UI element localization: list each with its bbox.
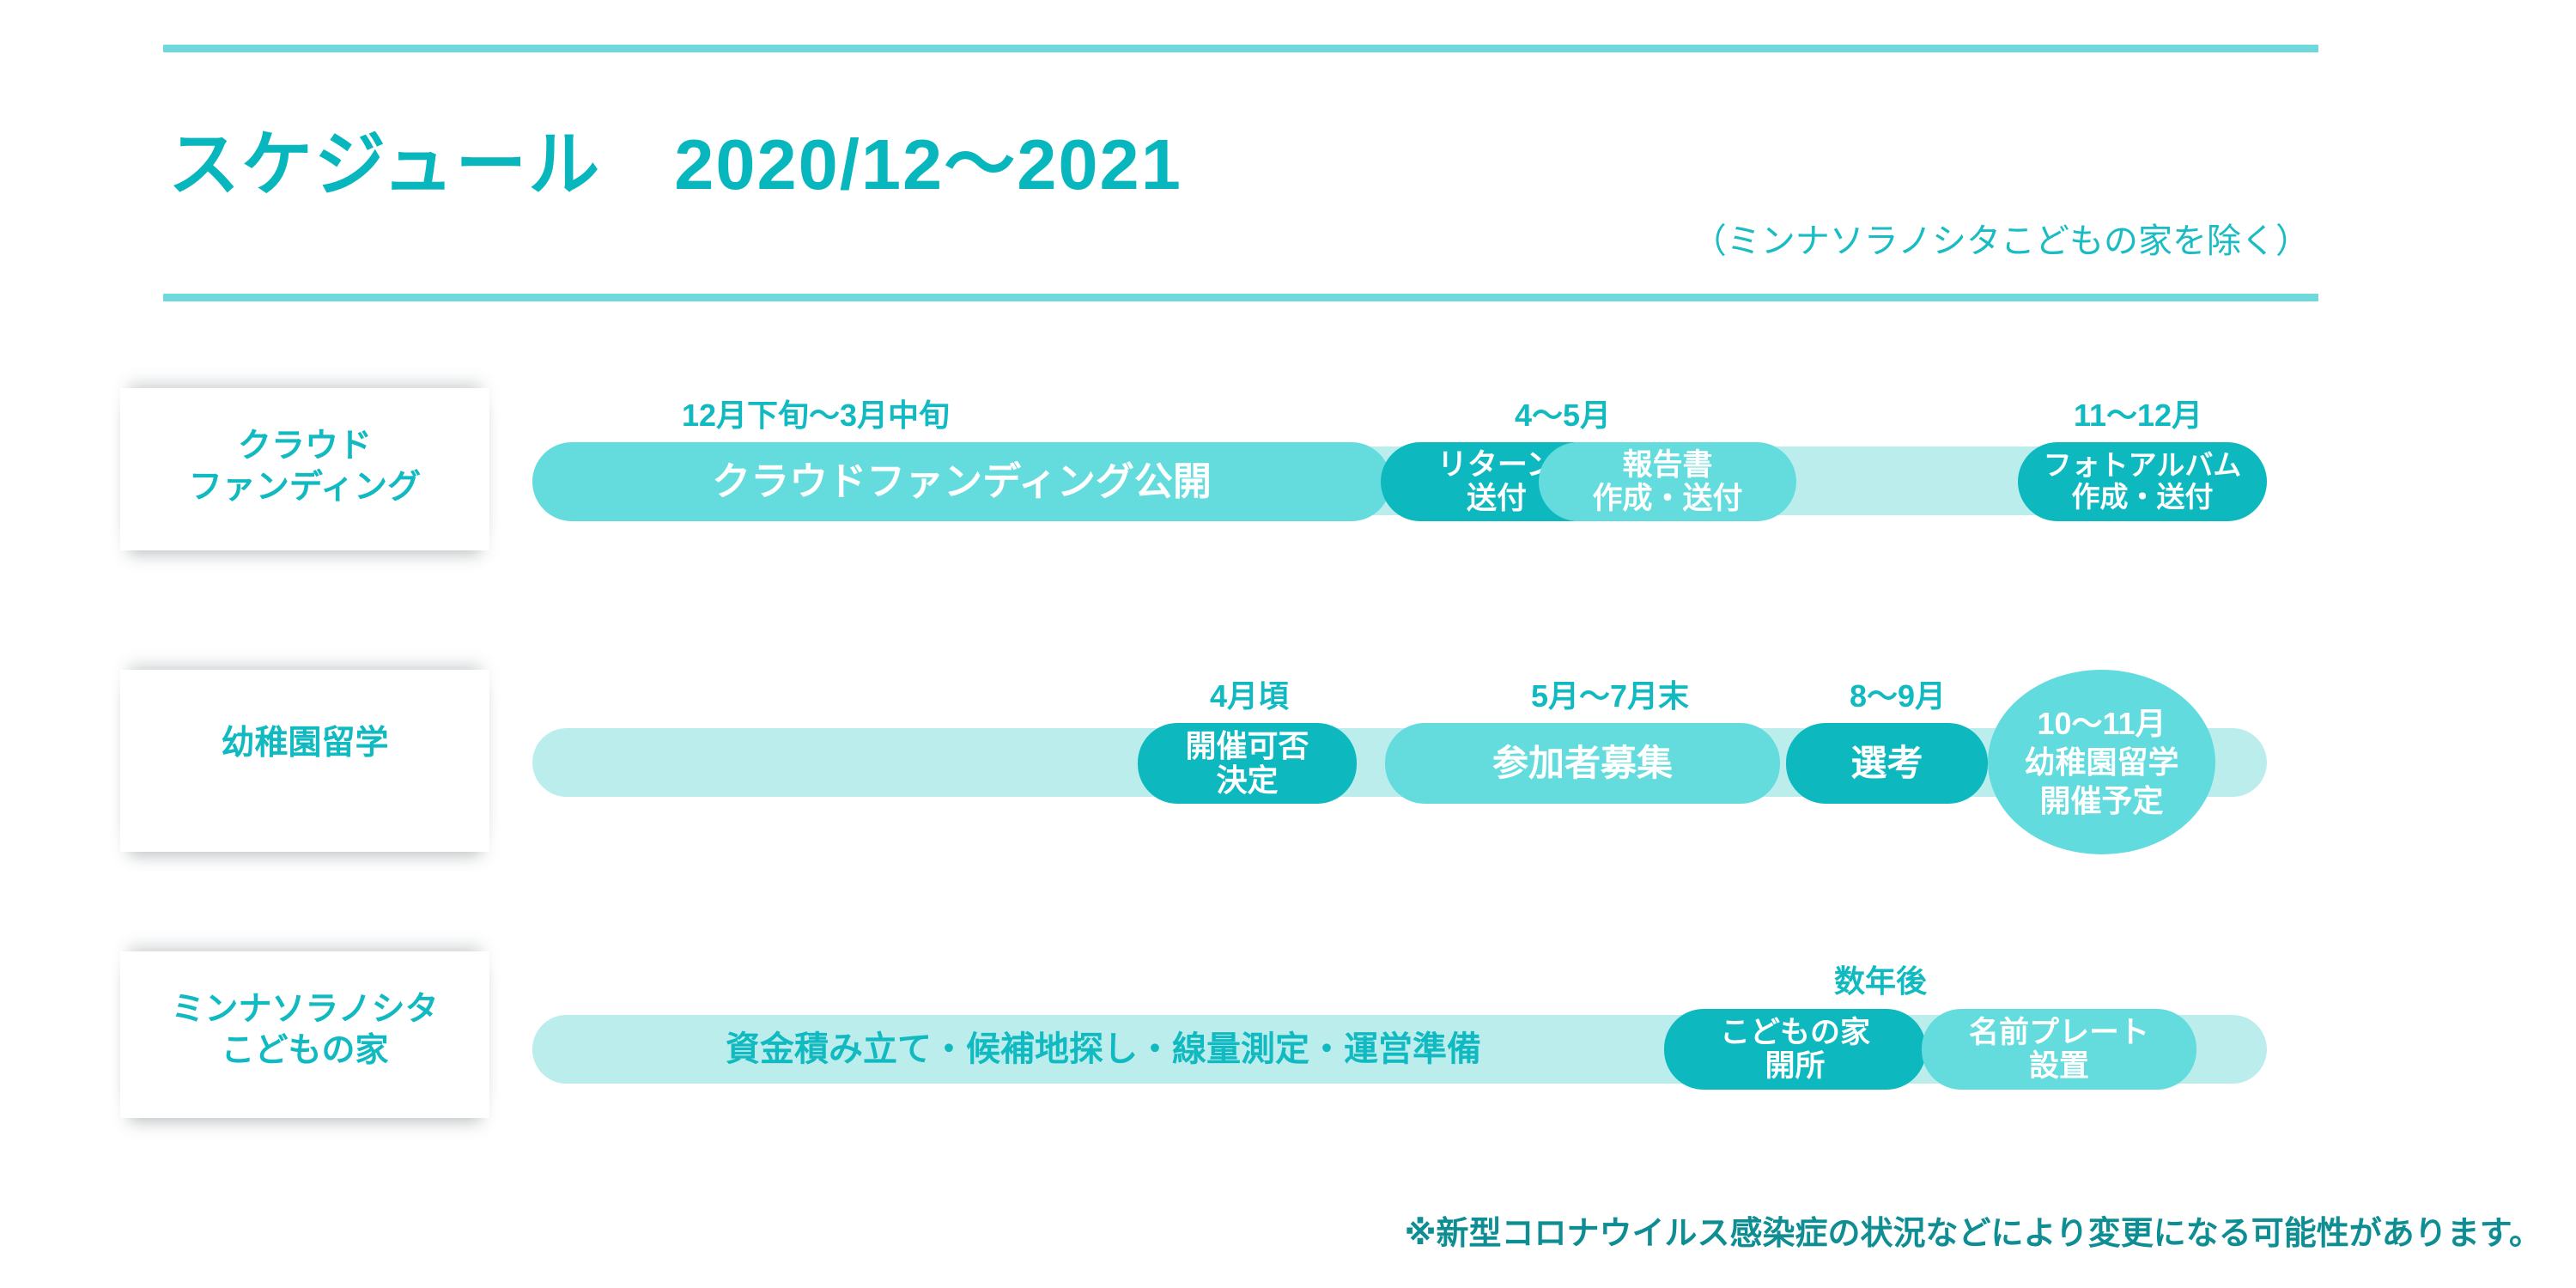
pill-kindergarten-recruiting[interactable]: 参加者募集: [1385, 723, 1780, 804]
page-title: スケジュール 2020/12〜2021: [168, 106, 1182, 210]
timeline-row-kindergarten-study: 幼稚園留学 4月頃 5月〜7月末 8〜9月 開催可否 決定 参加者募集 選考 1…: [0, 653, 2576, 902]
pill-kodomo-preparation[interactable]: 資金積み立て・候補地探し・線量測定・運営準備: [532, 1015, 1674, 1084]
pill-crowdfunding-photo-album[interactable]: フォトアルバム 作成・送付: [2018, 442, 2267, 521]
caption-kodomo-0: 数年後: [1777, 957, 1984, 1001]
pill-kindergarten-decision[interactable]: 開催可否 決定: [1138, 723, 1357, 804]
pill-kindergarten-selection[interactable]: 選考: [1786, 723, 1988, 804]
row-label-crowdfunding: クラウド ファンディング: [120, 388, 489, 550]
header-top-rule: [163, 45, 2318, 52]
caption-kindergarten-1: 5月〜7月末: [1430, 671, 1790, 716]
timeline-row-crowdfunding: クラウド ファンディング 12月下旬〜3月中旬 4〜5月 11〜12月 クラウド…: [0, 369, 2576, 601]
timeline-row-kodomo-no-ie: ミンナソラノシタ こどもの家 数年後 資金積み立て・候補地探し・線量測定・運営準…: [0, 936, 2576, 1168]
row-label-kindergarten-study: 幼稚園留学: [120, 670, 489, 852]
header-bottom-rule: [163, 294, 2318, 301]
row-label-kodomo-no-ie: ミンナソラノシタ こどもの家: [120, 951, 489, 1118]
header: スケジュール 2020/12〜2021 （ミンナソラノシタこどもの家を除く）: [163, 45, 2318, 302]
header-scope-note: （ミンナソラノシタこどもの家を除く）: [1692, 213, 2310, 263]
caption-crowdfunding-0: 12月下旬〜3月中旬: [550, 391, 1082, 435]
pill-kodomo-nameplate[interactable]: 名前プレート 設置: [1922, 1009, 2196, 1090]
caption-crowdfunding-2: 11〜12月: [2001, 391, 2275, 435]
caption-crowdfunding-1: 4〜5月: [1451, 391, 1674, 435]
footer-disclaimer: ※新型コロナウイルス感染症の状況などにより変更になる可能性があります。: [1405, 1206, 2542, 1254]
pill-kodomo-opening[interactable]: こどもの家 開所: [1664, 1009, 1926, 1090]
caption-kindergarten-0: 4月頃: [1142, 671, 1357, 716]
bubble-kindergarten-event[interactable]: 10〜11月 幼稚園留学 開催予定: [1988, 670, 2215, 854]
pill-crowdfunding-publish[interactable]: クラウドファンディング公開: [532, 442, 1391, 521]
caption-kindergarten-2: 8〜9月: [1790, 671, 2005, 716]
pill-crowdfunding-report[interactable]: 報告書 作成・送付: [1539, 442, 1796, 521]
